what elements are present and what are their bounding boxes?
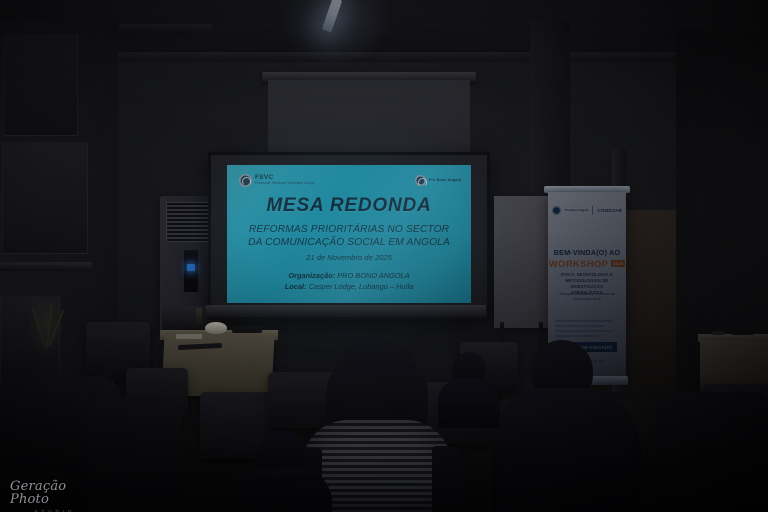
chair bbox=[268, 372, 334, 428]
slide-date: 21 de Novembro de 2025 bbox=[227, 253, 471, 262]
table-bottle bbox=[196, 308, 202, 325]
attendee-arm-right bbox=[432, 446, 462, 512]
slide-logo-fsvc: FSVC Financial Services Volunteer Corps bbox=[239, 174, 315, 187]
slide-logo-probono: Pro Bono Angola bbox=[415, 175, 461, 186]
slide-location-line: Local: Casper Lodge, Lubango – Huíla bbox=[227, 282, 471, 293]
ceiling-vent bbox=[120, 24, 212, 35]
wall-panel bbox=[4, 34, 78, 136]
plant-stem bbox=[32, 308, 46, 347]
slide-organization-line: Organização: PRO BONO ANGOLA bbox=[227, 271, 471, 282]
decorative-plant bbox=[28, 300, 64, 360]
fsvc-logo-tagline: Financial Services Volunteer Corps bbox=[255, 182, 315, 186]
wall-shelf bbox=[0, 262, 92, 271]
projection-screen-blank-area bbox=[268, 80, 470, 160]
flipchart bbox=[494, 196, 548, 328]
slide-title: MESA REDONDA bbox=[227, 195, 471, 217]
attendee-left-front-body bbox=[236, 468, 332, 512]
table-dark-object bbox=[232, 326, 262, 333]
attendee-back-body bbox=[438, 378, 500, 428]
slide-organization-value: PRO BONO ANGOLA bbox=[337, 271, 409, 280]
wall-panel bbox=[2, 142, 88, 254]
table-papers bbox=[176, 334, 202, 339]
slide-subtitle: REFORMAS PRIORITÁRIAS NO SECTOR DA COMUN… bbox=[227, 223, 471, 250]
foreground-chair-right bbox=[654, 392, 768, 512]
probono-mark-icon bbox=[415, 175, 426, 186]
projection-screen-weight-bar bbox=[206, 305, 486, 317]
watermark-name: Geração Photo bbox=[10, 480, 100, 506]
projection-screen: FSVC Financial Services Volunteer Corps … bbox=[208, 152, 490, 320]
slide-subtitle-line-1: REFORMAS PRIORITÁRIAS NO SECTOR bbox=[227, 223, 471, 236]
slide-organization-label: Organização: bbox=[288, 271, 335, 280]
attendee-right-body bbox=[498, 388, 634, 512]
table-bowl bbox=[205, 322, 227, 334]
slide-credits: Organização: PRO BONO ANGOLA Local: Casp… bbox=[227, 271, 471, 292]
probono-logo-name: Pro Bono Angola bbox=[429, 178, 461, 182]
ac-control-panel[interactable] bbox=[184, 250, 198, 292]
presentation-slide: FSVC Financial Services Volunteer Corps … bbox=[227, 165, 471, 303]
photograph-scene: FSVC Financial Services Volunteer Corps … bbox=[0, 0, 768, 512]
foreground-chair-left-second bbox=[86, 398, 182, 512]
ac-display-led bbox=[187, 264, 195, 271]
globe-icon bbox=[239, 174, 252, 187]
slide-location-value: Casper Lodge, Lubango – Huíla bbox=[309, 282, 414, 291]
side-table-object bbox=[732, 330, 754, 335]
side-table-object bbox=[712, 331, 724, 335]
slide-subtitle-line-2: DA COMUNICAÇÃO SOCIAL EM ANGOLA bbox=[227, 236, 471, 249]
photographer-watermark: Geração Photo STUDIO bbox=[10, 480, 100, 512]
slide-location-label: Local: bbox=[285, 282, 307, 291]
